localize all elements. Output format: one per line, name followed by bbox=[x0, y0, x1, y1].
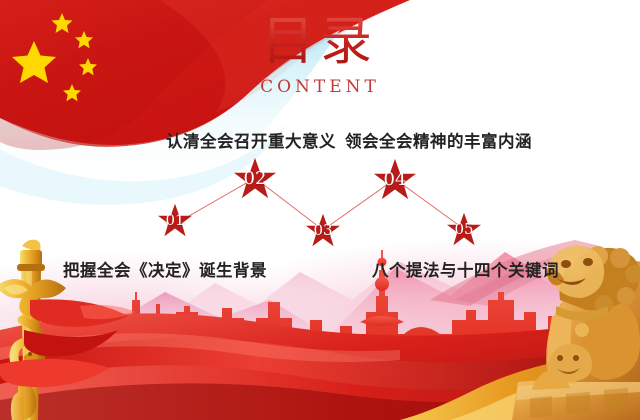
content-label-bottom-left[interactable]: 把握全会《决定》诞生背景 bbox=[63, 257, 267, 281]
content-label-bottom-right[interactable]: 八个提法与十四个关键词 bbox=[372, 257, 559, 281]
content-label-top-right[interactable]: 领会全会精神的丰富内涵 bbox=[345, 128, 532, 152]
content-node-02[interactable]: 02 bbox=[233, 157, 277, 199]
content-label-top-left[interactable]: 认清全会召开重大意义 bbox=[166, 128, 336, 152]
slide-canvas: 目录 CONTENT 认清全会召开重大意义 领会全会精神的丰富内涵 把握全会《决… bbox=[0, 0, 640, 420]
page-subtitle: CONTENT bbox=[0, 77, 640, 97]
content-node-number: 04 bbox=[384, 169, 407, 190]
content-node-01[interactable]: 01 bbox=[157, 203, 193, 237]
page-title: 目录 bbox=[0, 14, 640, 70]
content-node-number: 05 bbox=[454, 220, 473, 238]
content-node-number: 01 bbox=[165, 211, 184, 229]
content-node-04[interactable]: 04 bbox=[373, 158, 417, 200]
content-node-number: 03 bbox=[313, 221, 332, 239]
content-node-number: 02 bbox=[244, 168, 267, 189]
content-node-03[interactable]: 03 bbox=[305, 213, 341, 247]
content-node-05[interactable]: 05 bbox=[446, 212, 482, 246]
